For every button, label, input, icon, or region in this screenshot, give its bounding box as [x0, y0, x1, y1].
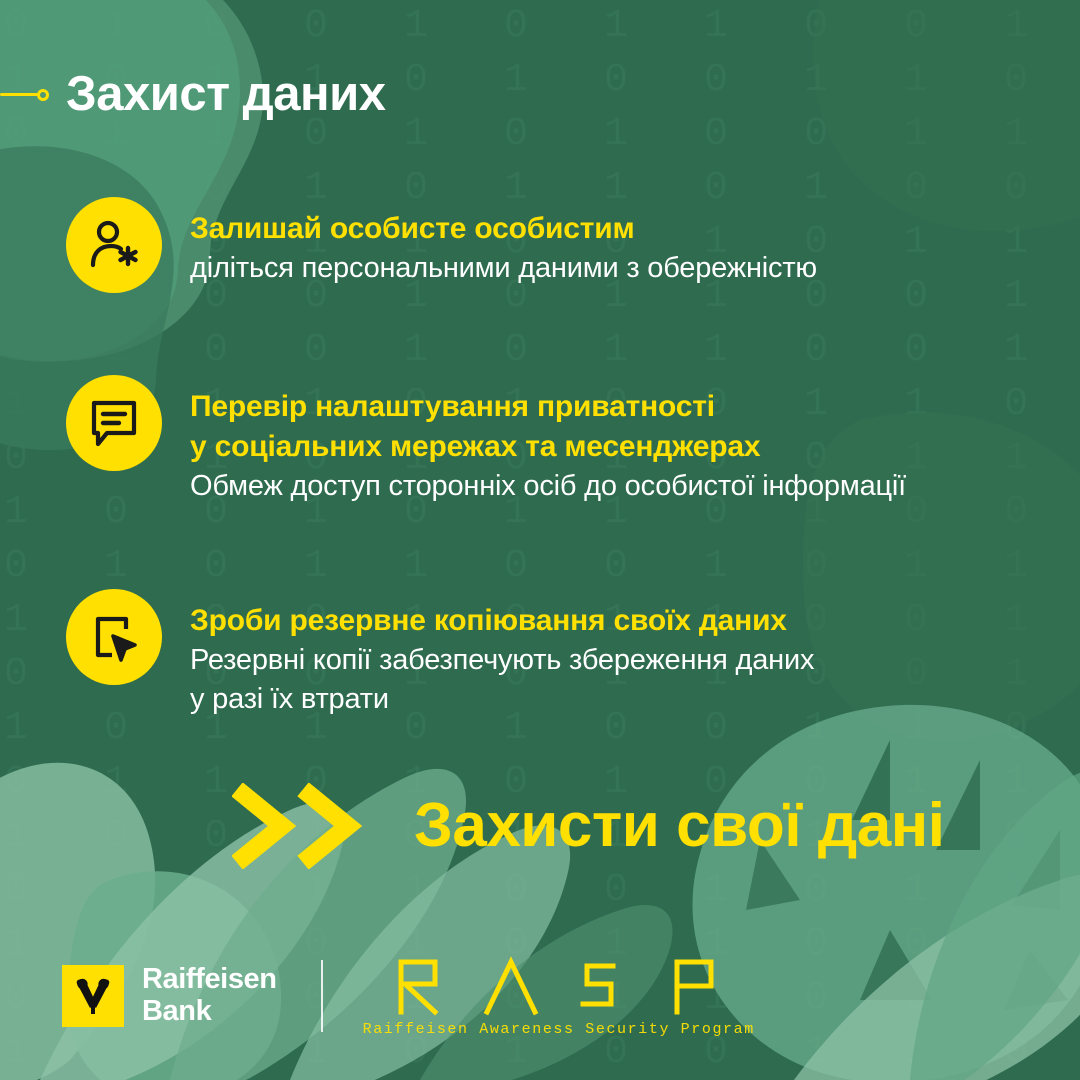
list-item: Зроби резервне копіювання своїх даних Ре…: [66, 589, 1056, 719]
person-asterisk-icon: [66, 197, 162, 293]
list-item-subtitle: Обмеж доступ сторонніх осіб до особистої…: [190, 467, 906, 506]
list-item: Перевір налаштування приватності у соціа…: [66, 375, 1056, 506]
infographic-canvas: 0 1 0 0 1 0 1 1 0 0 1 0 1 0 0 1 1 0 1 0 …: [0, 0, 1080, 1080]
list-item-subtitle-line2: у разі їх втрати: [190, 680, 814, 719]
list-item-heading-line2: у соціальних мережах та месенджерах: [190, 427, 906, 467]
device-cursor-backup-icon: [66, 589, 162, 685]
rasp-tagline: Raiffeisen Awareness Security Program: [363, 1021, 755, 1038]
cta-banner: Захисти свої дані: [232, 783, 944, 869]
bank-name-line2: Bank: [142, 995, 211, 1027]
raiffeisen-bank-wordmark: Raiffeisen Bank: [142, 964, 277, 1028]
list-item-text: Перевір налаштування приватності у соціа…: [190, 375, 906, 506]
rasp-letters-icon: [391, 954, 727, 1016]
list-item-text: Залишай особисте особистим діліться перс…: [190, 197, 817, 288]
page-title-row: Захист даних: [0, 68, 1080, 122]
raiffeisen-gable-cross-icon: [62, 965, 124, 1027]
list-item-heading: Залишай особисте особистим: [190, 209, 817, 249]
rasp-logo: Raiffeisen Awareness Security Program: [363, 954, 755, 1038]
cta-text: Захисти свої дані: [414, 795, 944, 857]
list-item-heading: Зроби резервне копіювання своїх даних: [190, 601, 814, 641]
double-chevron-right-icon: [232, 783, 372, 869]
page-title: Захист даних: [66, 68, 386, 122]
list-item-subtitle: Резервні копії забезпечують збереження д…: [190, 641, 814, 680]
list-item-text: Зроби резервне копіювання своїх даних Ре…: [190, 589, 814, 719]
bank-name-line1: Raiffeisen: [142, 963, 277, 995]
list-item-heading: Перевір налаштування приватності: [190, 387, 906, 427]
bullet-list: Залишай особисте особистим діліться перс…: [66, 197, 1056, 719]
footer-divider: [321, 960, 323, 1032]
footer: Raiffeisen Bank Raiffeisen Awareness Sec…: [62, 954, 755, 1038]
list-item: Залишай особисте особистим діліться перс…: [66, 197, 1056, 293]
list-item-subtitle: діліться персональними даними з обережні…: [190, 249, 817, 288]
line-dot-marker-icon: [0, 89, 60, 101]
raiffeisen-bank-logo: Raiffeisen Bank: [62, 964, 277, 1028]
chat-bubble-icon: [66, 375, 162, 471]
